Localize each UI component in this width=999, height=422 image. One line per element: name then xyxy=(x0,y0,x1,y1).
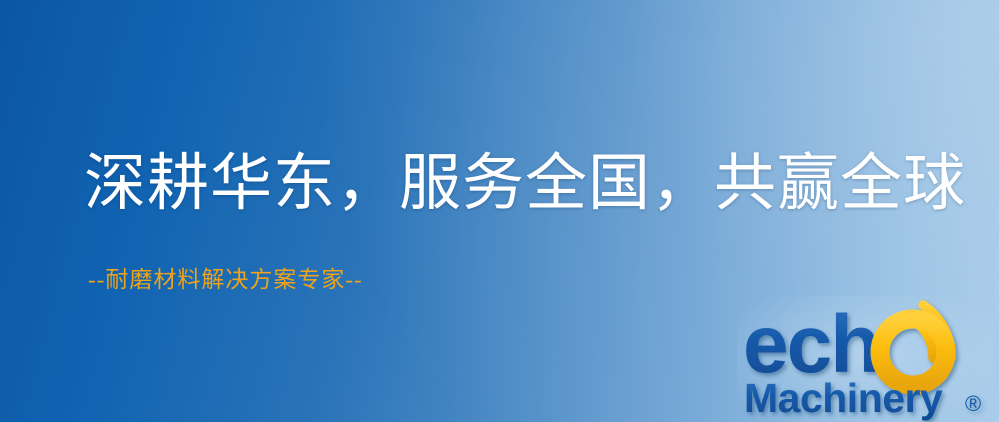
echo-machinery-logo[interactable]: ech Machinery ® xyxy=(737,296,995,422)
svg-text:®: ® xyxy=(965,391,981,416)
banner-headline: 深耕华东，服务全国，共赢全球 xyxy=(84,152,966,217)
hero-banner: 深耕华东，服务全国，共赢全球 --耐磨材料解决方案专家-- xyxy=(0,0,999,422)
banner-subtitle: --耐磨材料解决方案专家-- xyxy=(88,266,363,294)
svg-text:Machinery: Machinery xyxy=(744,375,943,421)
